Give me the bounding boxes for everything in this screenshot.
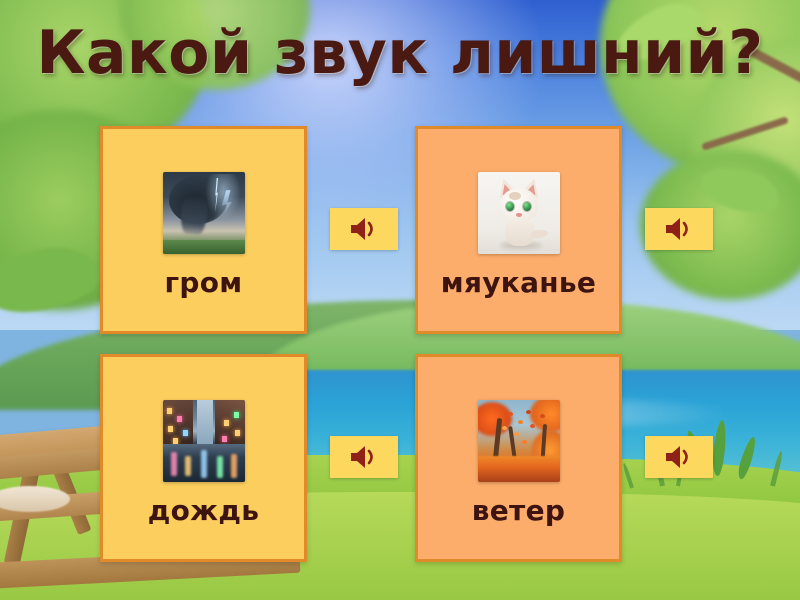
speaker-button-dozhd[interactable] [330, 436, 398, 478]
card-myaukanye[interactable]: мяуканье [415, 126, 622, 334]
card-label: ветер [472, 494, 565, 528]
speaker-button-grom[interactable] [330, 208, 398, 250]
speaker-icon [664, 216, 694, 242]
storm-cloud-lightning-image [163, 172, 245, 254]
card-grom[interactable]: гром [100, 126, 307, 334]
speaker-icon [664, 444, 694, 470]
card-dozhd[interactable]: дождь [100, 354, 307, 562]
autumn-windy-trees-image [478, 400, 560, 482]
speaker-button-myaukanye[interactable] [645, 208, 713, 250]
speaker-button-veter[interactable] [645, 436, 713, 478]
kitten-image [478, 172, 560, 254]
page-title: Какой звук лишний? [0, 14, 800, 92]
speaker-icon [349, 216, 379, 242]
card-label: гром [165, 266, 243, 300]
quiz-stage: Какой звук лишний? гром мяуканье [0, 0, 800, 600]
speaker-icon [349, 444, 379, 470]
card-label: мяуканье [441, 266, 596, 300]
card-veter[interactable]: ветер [415, 354, 622, 562]
card-label: дождь [148, 494, 260, 528]
rainy-city-street-image [163, 400, 245, 482]
